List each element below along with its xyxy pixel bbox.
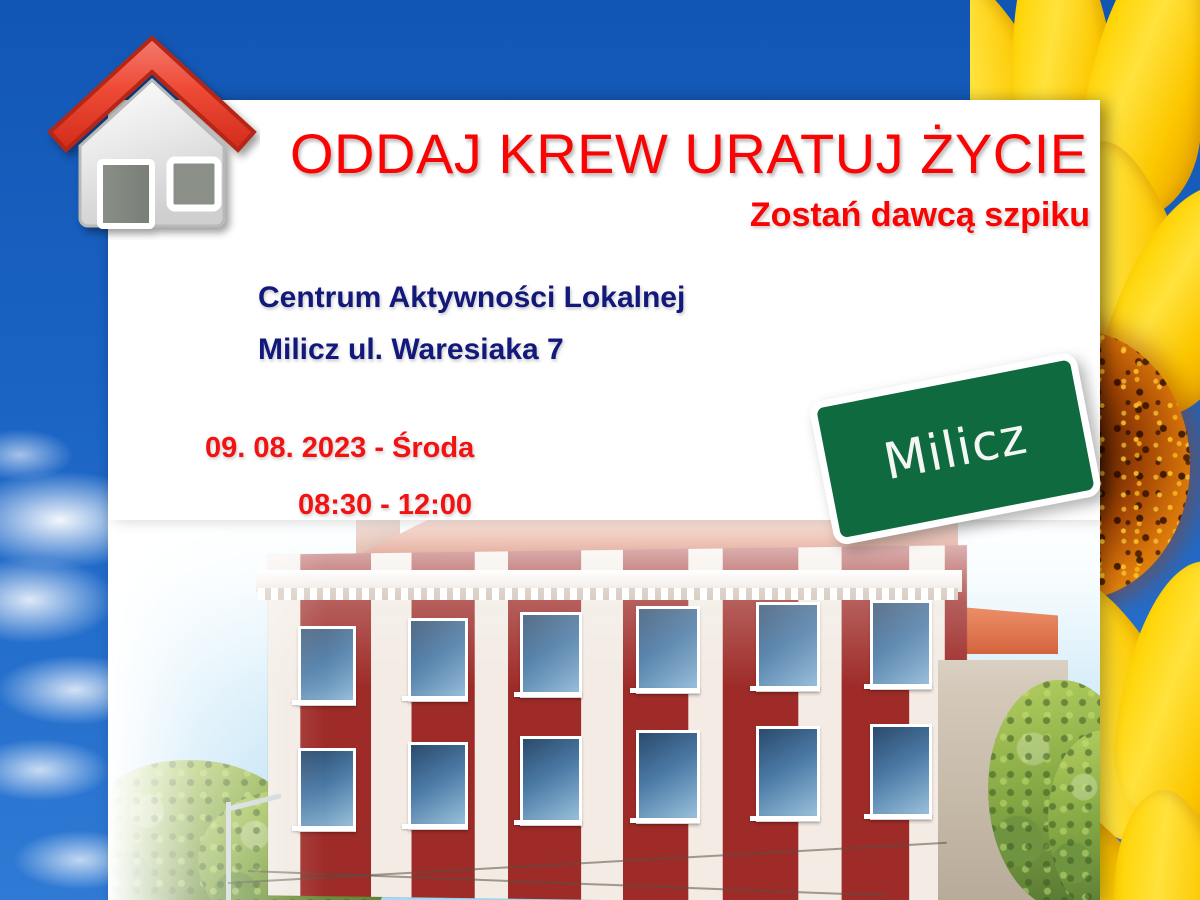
- poster-canvas: ODDAJ KREW URATUJ ŻYCIE Zostań dawcą szp…: [0, 0, 1200, 900]
- page-title: ODDAJ KREW URATUJ ŻYCIE: [290, 126, 1110, 182]
- page-subtitle: Zostań dawcą szpiku: [300, 196, 1090, 235]
- event-schedule: 09. 08. 2023 - Środa 08:30 - 12:00: [205, 420, 565, 533]
- event-date: 09. 08. 2023 - Środa: [205, 420, 565, 477]
- event-time: 08:30 - 12:00: [205, 477, 565, 534]
- venue-line-1: Centrum Aktywności Lokalnej: [258, 272, 685, 324]
- home-icon: [44, 28, 260, 240]
- venue-address: Centrum Aktywności Lokalnej Milicz ul. W…: [258, 272, 685, 375]
- road-sign: Milicz: [808, 351, 1103, 546]
- road-sign-label: Milicz: [879, 407, 1032, 492]
- venue-line-2: Milicz ul. Waresiaka 7: [258, 324, 685, 376]
